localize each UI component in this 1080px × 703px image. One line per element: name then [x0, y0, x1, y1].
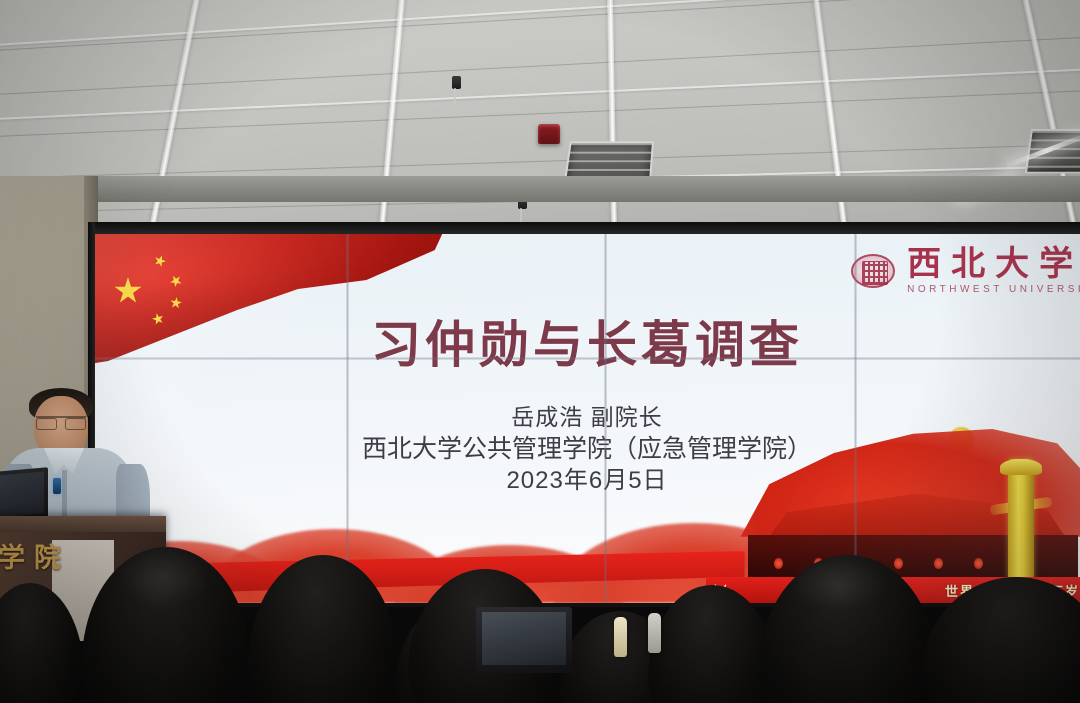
- videowall-bezel-top: [88, 222, 1080, 234]
- presenter-glasses: [36, 416, 86, 427]
- university-name-cn: 西北大学: [907, 247, 1080, 281]
- slide-date-line: 2023年6月5日: [94, 465, 1080, 496]
- audience-head: [922, 577, 1080, 703]
- audience-head: [648, 585, 776, 703]
- audience-laptop[interactable]: [476, 607, 572, 673]
- smoke-detector: [538, 124, 560, 144]
- lecture-hall-scene: 西北大学 NORTHWEST UNIVERSITY: [0, 0, 1080, 703]
- hair-ornament: [648, 613, 661, 653]
- university-name-block: 西北大学 NORTHWEST UNIVERSITY: [907, 247, 1080, 295]
- slide-affiliation-line: 西北大学公共管理学院（应急管理学院）: [94, 433, 1080, 466]
- hair-ornament: [614, 617, 627, 657]
- slide-title: 习仲勋与长葛调查: [94, 305, 1080, 377]
- slide-subtitle-block: 岳成浩 副院长 西北大学公共管理学院（应急管理学院） 2023年6月5日: [94, 403, 1080, 497]
- slide-speaker-line: 岳成浩 副院长: [94, 403, 1080, 433]
- audience-head: [0, 583, 84, 703]
- ceiling-sensor-icon: [452, 76, 461, 89]
- videowall-seam-horizontal: [94, 357, 1080, 360]
- wall-upper-strip: [0, 176, 1080, 202]
- university-seal-icon: [851, 254, 895, 288]
- university-name-en: NORTHWEST UNIVERSITY: [907, 284, 1080, 295]
- audience-silhouettes: [0, 528, 1080, 703]
- audience-head: [248, 555, 398, 703]
- university-logo: 西北大学 NORTHWEST UNIVERSITY: [851, 247, 1080, 295]
- ceiling-air-vent: [1025, 129, 1080, 174]
- clip-microphone: [53, 478, 61, 494]
